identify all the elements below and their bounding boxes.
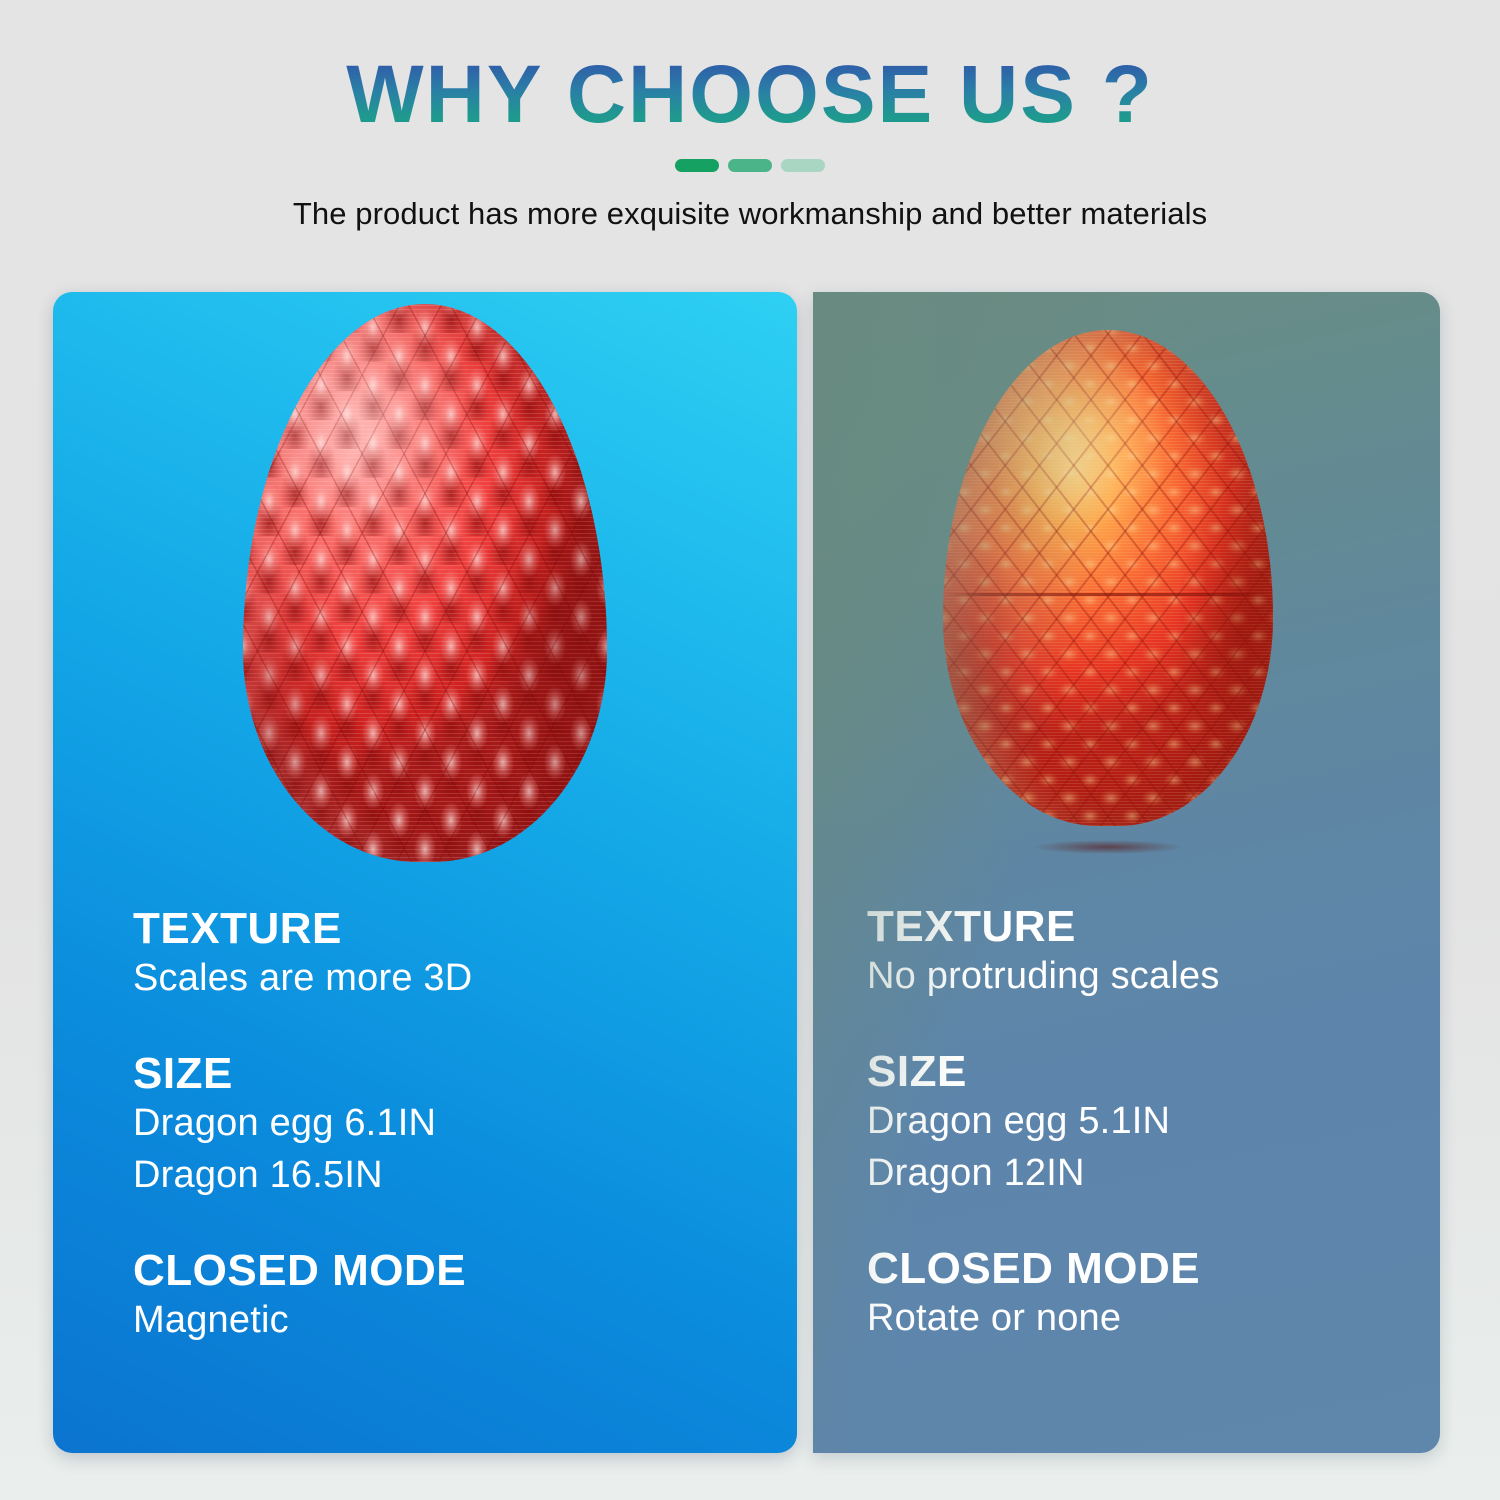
spec-line: Scales are more 3D [133,953,753,1005]
page-title: WHY CHOOSE US ? [346,52,1154,139]
page-subtitle: The product has more exquisite workmansh… [0,196,1500,232]
gloss-overlay [243,304,607,862]
left-panel: TEXTURE Scales are more 3D SIZE Dragon e… [53,292,797,1453]
right-panel: TEXTURE No protruding scales SIZE Dragon… [813,292,1440,1453]
seam-line [943,593,1273,596]
right-spec-list: TEXTURE No protruding scales SIZE Dragon… [867,902,1407,1344]
spec-line: Dragon egg 5.1IN [867,1096,1407,1148]
left-spec-list: TEXTURE Scales are more 3D SIZE Dragon e… [133,904,753,1346]
spec-line: Dragon 16.5IN [133,1150,753,1202]
left-product-stage [53,292,797,892]
dash-divider [0,159,1500,172]
dragon-egg-flat-icon [943,330,1273,826]
spec-block-size: SIZE Dragon egg 5.1IN Dragon 12IN [867,1047,1407,1200]
spec-block-closed-mode: CLOSED MODE Rotate or none [867,1244,1407,1345]
spec-line: No protruding scales [867,951,1407,1003]
gloss-overlay [943,330,1273,826]
right-product-stage [813,292,1440,892]
left-product-image [225,304,625,884]
spec-line: Magnetic [133,1295,753,1347]
dragon-egg-spiky-icon [243,304,607,862]
spec-line: Dragon 12IN [867,1148,1407,1200]
spec-title: SIZE [867,1047,1407,1096]
spec-block-texture: TEXTURE Scales are more 3D [133,904,753,1005]
comparison-panels: TEXTURE Scales are more 3D SIZE Dragon e… [53,292,1440,1453]
spec-title: CLOSED MODE [133,1246,753,1295]
spec-title: CLOSED MODE [867,1244,1407,1293]
base-shadow [1033,840,1183,854]
spec-block-texture: TEXTURE No protruding scales [867,902,1407,1003]
dash-segment-2 [728,159,772,172]
header: WHY CHOOSE US ? The product has more exq… [0,0,1500,232]
spec-title: TEXTURE [867,902,1407,951]
spec-title: SIZE [133,1049,753,1098]
spec-line: Rotate or none [867,1293,1407,1345]
dash-segment-1 [675,159,719,172]
spec-line: Dragon egg 6.1IN [133,1098,753,1150]
right-product-image [928,330,1288,850]
spec-block-closed-mode: CLOSED MODE Magnetic [133,1246,753,1347]
dash-segment-3 [781,159,825,172]
spec-block-size: SIZE Dragon egg 6.1IN Dragon 16.5IN [133,1049,753,1202]
spec-title: TEXTURE [133,904,753,953]
